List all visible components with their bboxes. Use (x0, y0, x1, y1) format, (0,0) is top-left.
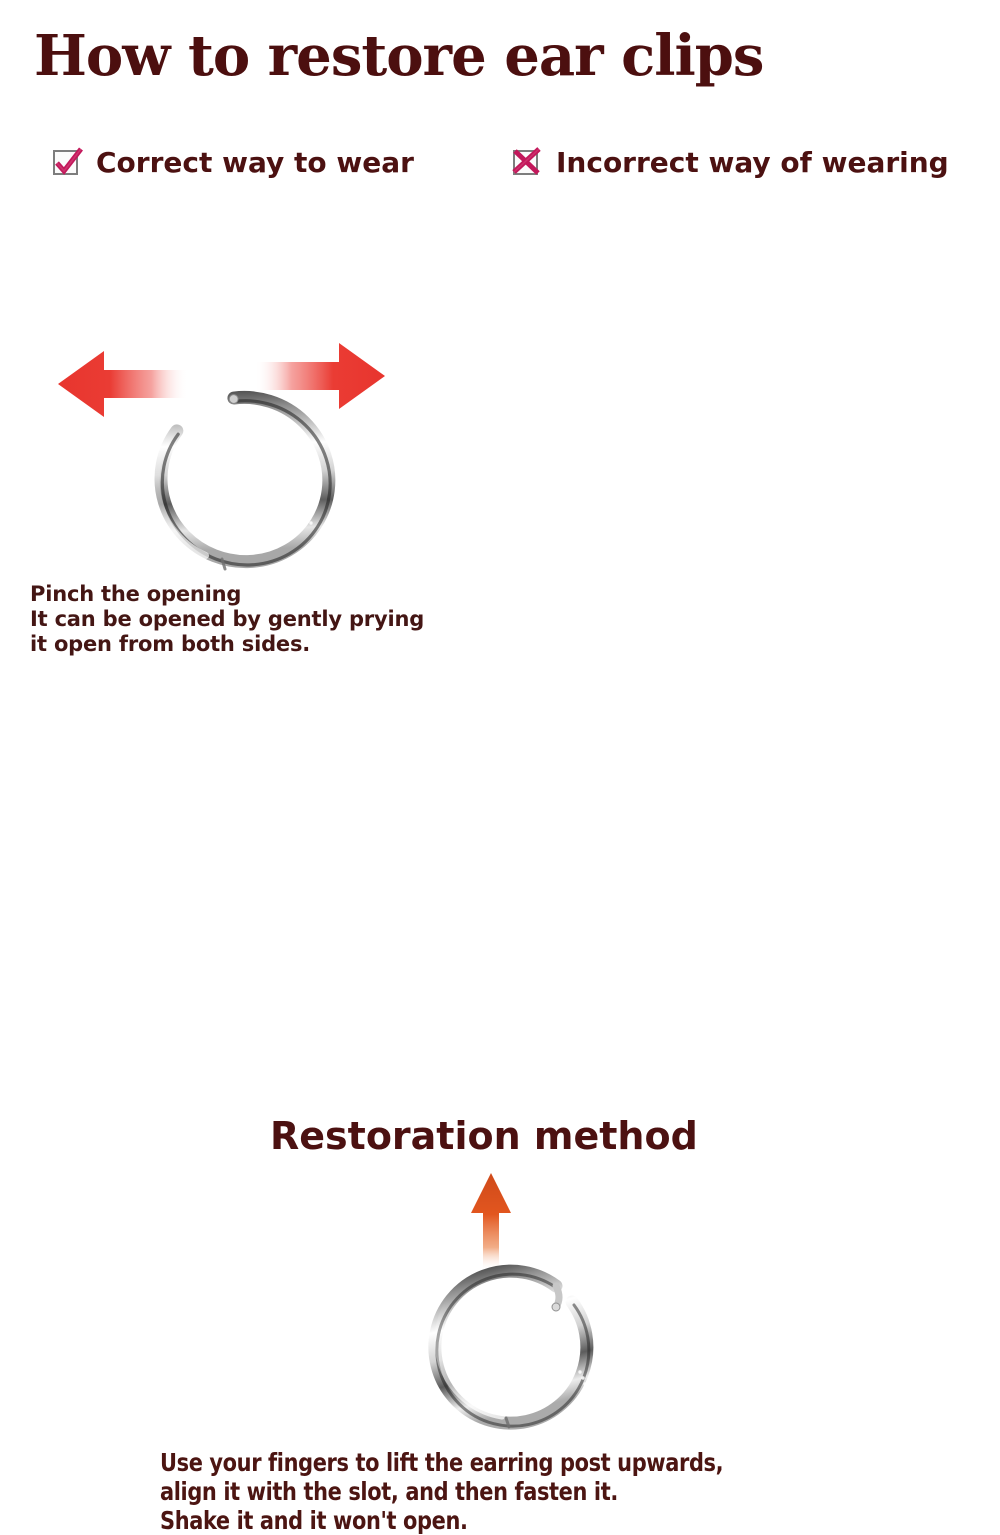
caption-restoration-method: Use your fingers to lift the earring pos… (160, 1448, 723, 1535)
panel-correct-way: Correct way to wear (0, 130, 500, 550)
header-incorrect-way: Incorrect way of wearing (512, 148, 949, 178)
checkbox-crossed-icon (512, 148, 542, 178)
checkbox-checked-icon (52, 148, 82, 178)
page-title: How to restore ear clips (34, 24, 763, 88)
restoration-method-heading: Restoration method (270, 1113, 698, 1159)
header-correct-way: Correct way to wear (52, 148, 414, 178)
earring-hoop-restored-image (400, 1250, 625, 1440)
header-correct-way-label: Correct way to wear (96, 148, 414, 178)
panel-restoration-method: Restoration method (0, 555, 1000, 1000)
panel-incorrect-way: Incorrect way of wearing (500, 130, 1000, 550)
header-incorrect-way-label: Incorrect way of wearing (556, 148, 949, 178)
earring-hoop-open-image (115, 375, 345, 580)
